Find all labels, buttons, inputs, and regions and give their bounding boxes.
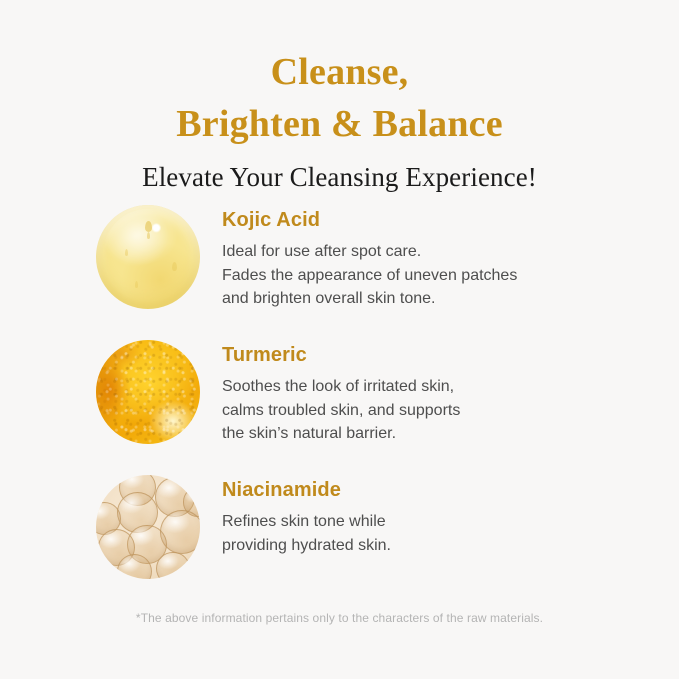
page-subtitle: Elevate Your Cleansing Experience! <box>0 161 679 193</box>
ingredient-row-kojic-acid: Kojic Acid Ideal for use after spot care… <box>0 205 679 340</box>
description-line: calms troubled skin, and supports <box>222 399 642 423</box>
ingredient-description-kojic-acid: Ideal for use after spot care. Fades the… <box>222 240 642 311</box>
ingredient-description-turmeric: Soothes the look of irritated skin, calm… <box>222 375 642 446</box>
turmeric-powder-swatch <box>96 340 200 444</box>
turmeric-text: Turmeric Soothes the look of irritated s… <box>222 344 642 446</box>
description-line: Fades the appearance of uneven patches <box>222 264 642 288</box>
ingredient-row-turmeric: Turmeric Soothes the look of irritated s… <box>0 340 679 475</box>
headline-line-2: Brighten & Balance <box>0 99 679 151</box>
bubble-icon <box>156 552 189 579</box>
page-title: Cleanse, Brighten & Balance <box>0 47 679 150</box>
ingredient-name-kojic-acid: Kojic Acid <box>222 209 642 231</box>
description-line: providing hydrated skin. <box>222 534 642 558</box>
ingredient-name-niacinamide: Niacinamide <box>222 479 642 501</box>
title-block: Cleanse, Brighten & Balance Elevate Your… <box>0 47 679 194</box>
bubble-group <box>96 475 200 579</box>
bubble-icon <box>183 487 200 516</box>
description-line: Refines skin tone while <box>222 510 642 534</box>
niacinamide-text: Niacinamide Refines skin tone while prov… <box>222 479 642 557</box>
ingredient-name-turmeric: Turmeric <box>222 344 642 366</box>
headline-line-1: Cleanse, <box>0 47 679 99</box>
kojic-acid-gel-swatch <box>96 205 200 309</box>
turmeric-swatch-wrap <box>96 340 200 444</box>
footnote-disclaimer: *The above information pertains only to … <box>0 611 679 625</box>
ingredient-list: Kojic Acid Ideal for use after spot care… <box>0 205 679 610</box>
description-line: Soothes the look of irritated skin, <box>222 375 642 399</box>
kojic-acid-swatch-wrap <box>96 205 200 309</box>
kojic-acid-text: Kojic Acid Ideal for use after spot care… <box>222 209 642 311</box>
niacinamide-bubbles-swatch <box>96 475 200 579</box>
ingredient-description-niacinamide: Refines skin tone while providing hydrat… <box>222 510 642 557</box>
description-line: the skin’s natural barrier. <box>222 422 642 446</box>
description-line: and brighten overall skin tone. <box>222 287 642 311</box>
niacinamide-swatch-wrap <box>96 475 200 579</box>
ingredient-row-niacinamide: Niacinamide Refines skin tone while prov… <box>0 475 679 610</box>
description-line: Ideal for use after spot care. <box>222 240 642 264</box>
ingredient-infographic: Cleanse, Brighten & Balance Elevate Your… <box>0 0 679 679</box>
